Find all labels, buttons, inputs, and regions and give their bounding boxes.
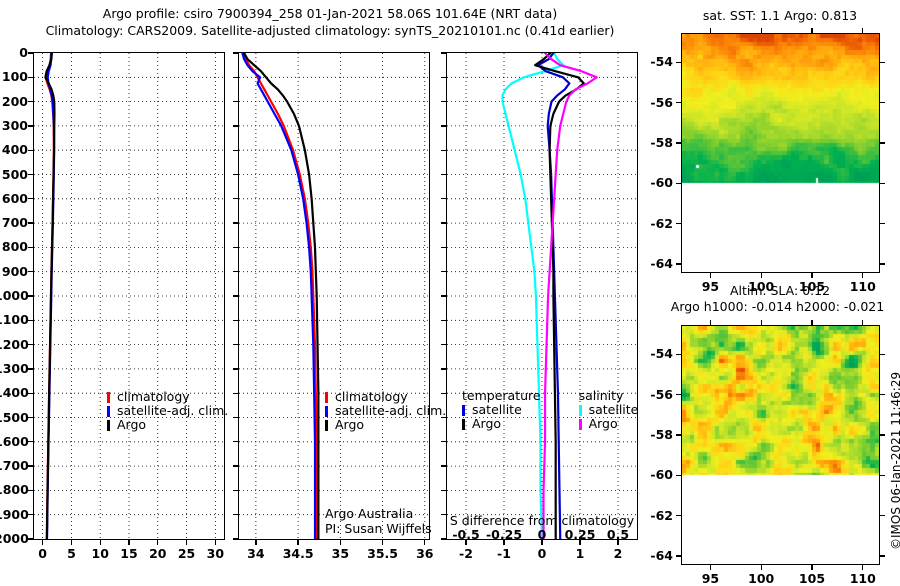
axis-tick-mark xyxy=(215,540,216,545)
axis-tick-mark xyxy=(880,475,885,476)
axis-tick-mark xyxy=(676,394,681,395)
axis-tick-mark xyxy=(811,273,812,278)
temperature-tick-label: 30 xyxy=(201,546,229,561)
axis-tick-mark xyxy=(541,540,542,545)
axis-tick-mark xyxy=(880,515,885,516)
axis-tick-mark xyxy=(100,540,101,545)
axis-tick-mark xyxy=(233,222,238,223)
axis-tick-mark xyxy=(233,538,238,539)
axis-tick-mark xyxy=(880,394,885,395)
legend-item: climatology xyxy=(323,390,446,404)
sst-map-panel xyxy=(681,33,880,273)
axis-tick-mark xyxy=(676,515,681,516)
legend-column-title: temperature xyxy=(460,388,541,403)
axis-tick-mark xyxy=(676,434,681,435)
sst-lat-tick-label: -64 xyxy=(639,256,673,271)
legend-label: satellite-adj. clim. xyxy=(117,403,228,418)
sst-lat-tick-label: -62 xyxy=(639,216,673,231)
axis-tick-mark xyxy=(503,540,504,545)
axis-tick-mark xyxy=(233,344,238,345)
temperature-tick-label: 5 xyxy=(57,546,85,561)
axis-tick-mark xyxy=(233,320,238,321)
legend-color-swatch xyxy=(462,405,465,416)
axis-tick-mark xyxy=(880,354,885,355)
axis-tick-mark xyxy=(441,101,446,102)
axis-tick-mark xyxy=(340,540,341,545)
axis-tick-mark xyxy=(233,441,238,442)
legend-label: satellite xyxy=(589,402,639,417)
temperature-difference-tick-label: -2 xyxy=(450,546,482,561)
salinity-profile-panel xyxy=(238,52,430,540)
axis-tick-mark xyxy=(441,247,446,248)
legend-label: Argo xyxy=(589,416,618,431)
axis-tick-mark xyxy=(233,417,238,418)
axis-tick-mark xyxy=(28,247,33,248)
axis-tick-mark xyxy=(441,222,446,223)
axis-tick-mark xyxy=(676,354,681,355)
salinity-tick-label: 36 xyxy=(406,546,444,561)
axis-tick-mark xyxy=(676,223,681,224)
axis-tick-mark xyxy=(233,77,238,78)
legend-item: Argo xyxy=(323,418,446,432)
legend-label: Argo xyxy=(117,417,146,432)
axis-tick-mark xyxy=(441,198,446,199)
axis-tick-mark xyxy=(71,540,72,545)
depth-tick-label: 300 xyxy=(0,118,28,133)
legend-color-swatch xyxy=(107,420,110,431)
axis-tick-mark xyxy=(880,555,885,556)
axis-tick-mark xyxy=(28,465,33,466)
axis-tick-mark xyxy=(676,62,681,63)
salinity-tick-label: 35 xyxy=(321,546,359,561)
axis-tick-mark xyxy=(441,295,446,296)
axis-tick-mark xyxy=(710,565,711,570)
axis-tick-mark xyxy=(233,125,238,126)
axis-tick-mark xyxy=(676,263,681,264)
axis-tick-mark xyxy=(186,540,187,545)
axis-tick-mark xyxy=(880,223,885,224)
axis-tick-mark xyxy=(880,183,885,184)
legend-label: satellite xyxy=(472,402,522,417)
axis-tick-mark xyxy=(28,344,33,345)
sla-map-panel xyxy=(681,325,880,565)
depth-tick-label: 1900 xyxy=(0,507,28,522)
axis-tick-mark xyxy=(28,417,33,418)
salinity-tick-label: 35.5 xyxy=(364,546,402,561)
axis-tick-mark xyxy=(233,514,238,515)
axis-tick-mark xyxy=(710,320,711,325)
axis-tick-mark xyxy=(880,434,885,435)
salinity-panel-legend: climatologysatellite-adj. clim.Argo xyxy=(323,390,446,432)
axis-tick-mark xyxy=(233,271,238,272)
axis-tick-mark xyxy=(28,174,33,175)
depth-tick-label: 2000 xyxy=(0,531,28,546)
axis-tick-mark xyxy=(42,540,43,545)
depth-tick-label: 200 xyxy=(0,94,28,109)
axis-tick-mark xyxy=(441,441,446,442)
depth-tick-label: 900 xyxy=(0,264,28,279)
axis-tick-mark xyxy=(862,320,863,325)
legend-label: Argo xyxy=(472,416,501,431)
axis-tick-mark xyxy=(441,77,446,78)
axis-tick-mark xyxy=(617,540,618,545)
depth-tick-label: 1100 xyxy=(0,312,28,327)
axis-tick-mark xyxy=(710,273,711,278)
legend-item: climatology xyxy=(105,390,228,404)
axis-tick-mark xyxy=(233,393,238,394)
depth-tick-label: 1700 xyxy=(0,458,28,473)
legend-column: temperaturesatelliteArgo xyxy=(460,388,541,431)
axis-tick-mark xyxy=(862,565,863,570)
axis-tick-mark xyxy=(862,273,863,278)
axis-tick-mark xyxy=(233,247,238,248)
legend-item: satellite xyxy=(577,403,639,417)
axis-tick-mark xyxy=(233,52,238,53)
difference-axis-title: S difference from climatology xyxy=(446,513,638,528)
depth-tick-label: 100 xyxy=(0,69,28,84)
salinity-tick-label: 34 xyxy=(237,546,275,561)
axis-tick-mark xyxy=(233,198,238,199)
sla-lat-tick-label: -56 xyxy=(639,387,673,402)
axis-tick-mark xyxy=(441,417,446,418)
axis-tick-mark xyxy=(28,295,33,296)
sst-map-title: sat. SST: 1.1 Argo: 0.813 xyxy=(660,8,900,23)
difference-profile-plot xyxy=(447,53,637,539)
legend-column-title: salinity xyxy=(577,388,639,403)
depth-tick-label: 400 xyxy=(0,142,28,157)
depth-tick-label: 700 xyxy=(0,215,28,230)
temperature-panel-legend: climatologysatellite-adj. clim.Argo xyxy=(105,390,228,432)
sst-lat-tick-label: -56 xyxy=(639,95,673,110)
legend-item: satellite-adj. clim. xyxy=(105,404,228,418)
axis-tick-mark xyxy=(465,540,466,545)
temperature-difference-tick-label: 0 xyxy=(526,546,558,561)
axis-tick-mark xyxy=(28,77,33,78)
temperature-difference-tick-label: -1 xyxy=(488,546,520,561)
legend-color-swatch xyxy=(579,419,582,430)
legend-columns: temperaturesatelliteArgosalinitysatellit… xyxy=(460,388,638,431)
legend-color-swatch xyxy=(579,405,582,416)
sla-lat-tick-label: -54 xyxy=(639,346,673,361)
sla-lon-tick-label: 110 xyxy=(847,571,879,586)
legend-item: Argo xyxy=(105,418,228,432)
sla-lon-tick-label: 100 xyxy=(745,571,777,586)
sla-lat-tick-label: -60 xyxy=(639,467,673,482)
axis-tick-mark xyxy=(128,540,129,545)
sla-lat-tick-label: -62 xyxy=(639,508,673,523)
axis-tick-mark xyxy=(441,52,446,53)
legend-item: Argo xyxy=(577,417,639,431)
axis-tick-mark xyxy=(28,514,33,515)
panel-annotation: Argo Australia xyxy=(325,506,413,521)
axis-tick-mark xyxy=(28,198,33,199)
axis-tick-mark xyxy=(297,540,298,545)
axis-tick-mark xyxy=(676,102,681,103)
axis-tick-mark xyxy=(255,540,256,545)
axis-tick-mark xyxy=(862,28,863,33)
axis-tick-mark xyxy=(880,62,885,63)
axis-tick-mark xyxy=(233,465,238,466)
axis-tick-mark xyxy=(233,490,238,491)
sla-lat-tick-label: -58 xyxy=(639,427,673,442)
axis-tick-mark xyxy=(233,368,238,369)
axis-tick-mark xyxy=(28,490,33,491)
legend-color-swatch xyxy=(325,406,328,417)
difference-profile-panel xyxy=(446,52,638,540)
axis-tick-mark xyxy=(28,150,33,151)
axis-tick-mark xyxy=(811,320,812,325)
depth-tick-label: 600 xyxy=(0,191,28,206)
axis-tick-mark xyxy=(28,222,33,223)
axis-tick-mark xyxy=(441,490,446,491)
axis-tick-mark xyxy=(28,393,33,394)
depth-tick-label: 1000 xyxy=(0,288,28,303)
salinity-tick-label: 34.5 xyxy=(279,546,317,561)
axis-tick-mark xyxy=(441,271,446,272)
axis-tick-mark xyxy=(233,174,238,175)
axis-tick-mark xyxy=(761,565,762,570)
axis-tick-mark xyxy=(676,142,681,143)
axis-tick-mark xyxy=(28,52,33,53)
difference-panel-legend: temperaturesatelliteArgosalinitysatellit… xyxy=(460,388,638,431)
depth-tick-label: 1800 xyxy=(0,482,28,497)
legend-label: climatology xyxy=(117,389,190,404)
depth-tick-label: 1600 xyxy=(0,434,28,449)
axis-tick-mark xyxy=(811,28,812,33)
copyright-stamp: ©IMOS 06-Jan-2021 11:46:29 xyxy=(889,372,900,550)
axis-tick-mark xyxy=(28,368,33,369)
legend-item: satellite-adj. clim. xyxy=(323,404,446,418)
axis-tick-mark xyxy=(676,183,681,184)
axis-tick-mark xyxy=(441,393,446,394)
axis-tick-mark xyxy=(761,273,762,278)
axis-tick-mark xyxy=(710,28,711,33)
legend-color-swatch xyxy=(325,392,328,403)
legend-item: Argo xyxy=(460,417,541,431)
temperature-tick-label: 25 xyxy=(173,546,201,561)
legend-color-swatch xyxy=(325,420,328,431)
salinity-profile-plot xyxy=(239,53,429,539)
axis-tick-mark xyxy=(424,540,425,545)
legend-column: salinitysatelliteArgo xyxy=(577,388,639,431)
sst-heatmap-image xyxy=(682,34,879,272)
argo-profile-figure: Argo profile: csiro 7900394_258 01-Jan-2… xyxy=(0,0,900,580)
figure-title-line1: Argo profile: csiro 7900394_258 01-Jan-2… xyxy=(0,6,660,21)
legend-color-swatch xyxy=(107,392,110,403)
axis-tick-mark xyxy=(233,150,238,151)
axis-tick-mark xyxy=(441,368,446,369)
axis-tick-mark xyxy=(28,101,33,102)
depth-tick-label: 1500 xyxy=(0,410,28,425)
temperature-tick-label: 20 xyxy=(144,546,172,561)
sla-lat-tick-label: -64 xyxy=(639,548,673,563)
sla-lon-tick-label: 95 xyxy=(694,571,726,586)
temperature-difference-tick-label: 1 xyxy=(564,546,596,561)
axis-tick-mark xyxy=(441,174,446,175)
depth-tick-label: 1400 xyxy=(0,385,28,400)
temperature-tick-label: 10 xyxy=(86,546,114,561)
legend-color-swatch xyxy=(107,406,110,417)
depth-tick-label: 800 xyxy=(0,239,28,254)
legend-label: satellite-adj. clim. xyxy=(335,403,446,418)
axis-tick-mark xyxy=(880,263,885,264)
temperature-profile-panel xyxy=(33,52,225,540)
axis-tick-mark xyxy=(233,295,238,296)
salinity-curve-satellite-adj-clim- xyxy=(242,53,315,539)
axis-tick-mark xyxy=(28,125,33,126)
depth-tick-label: 0 xyxy=(0,45,28,60)
figure-title-line2: Climatology: CARS2009. Satellite-adjuste… xyxy=(0,23,660,38)
axis-tick-mark xyxy=(28,441,33,442)
panel-annotation: PI: Susan Wijffels xyxy=(325,521,432,536)
sst-lat-tick-label: -58 xyxy=(639,135,673,150)
legend-item: satellite xyxy=(460,403,541,417)
axis-tick-mark xyxy=(28,538,33,539)
legend-color-swatch xyxy=(462,419,465,430)
axis-tick-mark xyxy=(441,344,446,345)
axis-tick-mark xyxy=(233,101,238,102)
sla-map-title-line1: Altim. SLA: 0.12 xyxy=(660,283,900,298)
axis-tick-mark xyxy=(811,565,812,570)
sst-lat-tick-label: -54 xyxy=(639,54,673,69)
axis-tick-mark xyxy=(441,320,446,321)
axis-tick-mark xyxy=(676,475,681,476)
depth-tick-label: 1200 xyxy=(0,337,28,352)
temperature-tick-label: 0 xyxy=(29,546,57,561)
sst-lat-tick-label: -60 xyxy=(639,175,673,190)
axis-tick-mark xyxy=(441,465,446,466)
axis-tick-mark xyxy=(28,271,33,272)
axis-tick-mark xyxy=(441,125,446,126)
axis-tick-mark xyxy=(761,28,762,33)
axis-tick-mark xyxy=(579,540,580,545)
axis-tick-mark xyxy=(880,102,885,103)
axis-tick-mark xyxy=(676,555,681,556)
axis-tick-mark xyxy=(157,540,158,545)
legend-label: Argo xyxy=(335,417,364,432)
temperature-difference-tick-label: 2 xyxy=(602,546,634,561)
sla-heatmap-image xyxy=(682,326,879,564)
axis-tick-mark xyxy=(761,320,762,325)
axis-tick-mark xyxy=(441,150,446,151)
axis-tick-mark xyxy=(880,142,885,143)
axis-tick-mark xyxy=(382,540,383,545)
depth-tick-label: 500 xyxy=(0,167,28,182)
sla-lon-tick-label: 105 xyxy=(796,571,828,586)
temperature-tick-label: 15 xyxy=(115,546,143,561)
depth-tick-label: 1300 xyxy=(0,361,28,376)
temperature-profile-plot xyxy=(34,53,224,539)
sla-map-title-line2: Argo h1000: -0.014 h2000: -0.021 xyxy=(655,299,900,314)
legend-label: climatology xyxy=(335,389,408,404)
axis-tick-mark xyxy=(28,320,33,321)
